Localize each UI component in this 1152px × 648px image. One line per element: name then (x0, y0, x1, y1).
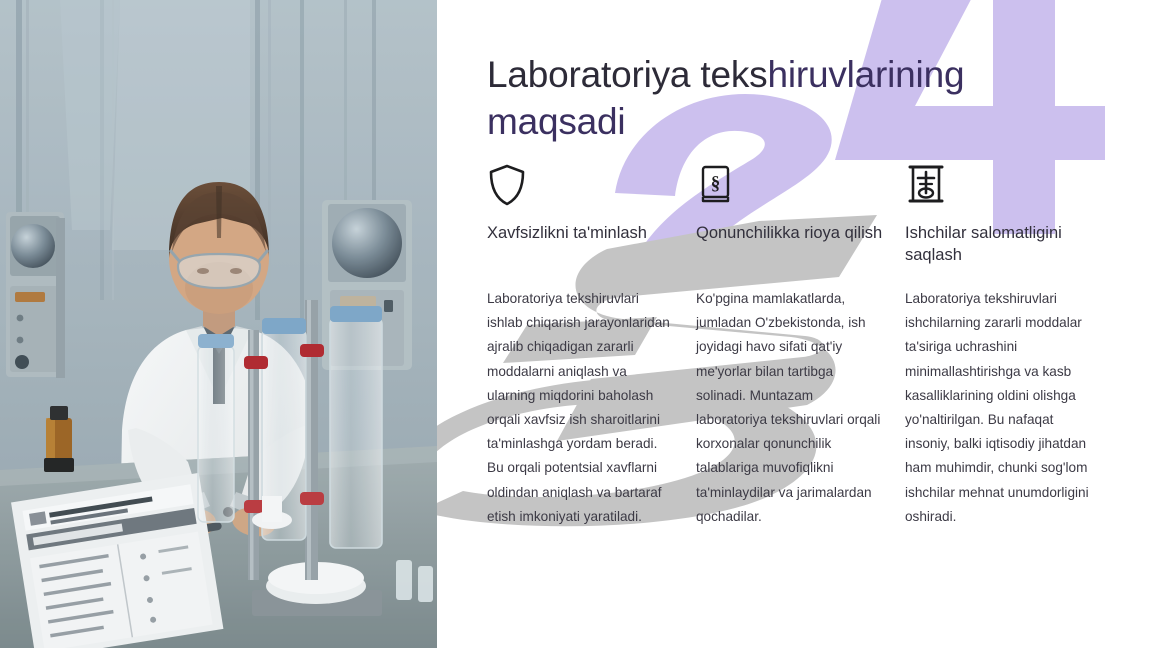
feature-column-safety: Xavfsizlikni ta'minlash Laboratoriya tek… (487, 163, 674, 529)
feature-body: Laboratoriya tekshiruvlari ishchilarning… (905, 287, 1092, 529)
page-title-plain: Laboratoriya teks (487, 54, 767, 95)
svg-text:§: § (711, 173, 721, 194)
feature-body: Ko'pgina mamlakatlarda, jumladan O'zbeki… (696, 287, 883, 529)
feature-column-health: Ishchilar salomatligini saqlash Laborato… (905, 163, 1092, 529)
lab-photo (0, 0, 437, 648)
law-book-icon: § (696, 163, 883, 207)
feature-heading: Ishchilar salomatligini saqlash (905, 223, 1092, 267)
feature-column-compliance: § Qonunchilikka rioya qilish Ko'pgina ma… (696, 163, 883, 529)
page-title: Laboratoriya tekshiruvlarining maqsadi (487, 52, 1047, 145)
feature-columns: Xavfsizlikni ta'minlash Laboratoriya tek… (487, 163, 1112, 529)
shield-icon (487, 163, 674, 207)
health-frame-icon (905, 163, 1092, 207)
feature-heading: Qonunchilikka rioya qilish (696, 223, 883, 267)
slide-content: Laboratoriya tekshiruvlarining maqsadi X… (487, 0, 1127, 648)
feature-body: Laboratoriya tekshiruvlari ishlab chiqar… (487, 287, 674, 529)
feature-heading: Xavfsizlikni ta'minlash (487, 223, 674, 267)
slide-root: Laboratoriya tekshiruvlarining maqsadi X… (0, 0, 1152, 648)
lab-photo-image (0, 0, 437, 648)
